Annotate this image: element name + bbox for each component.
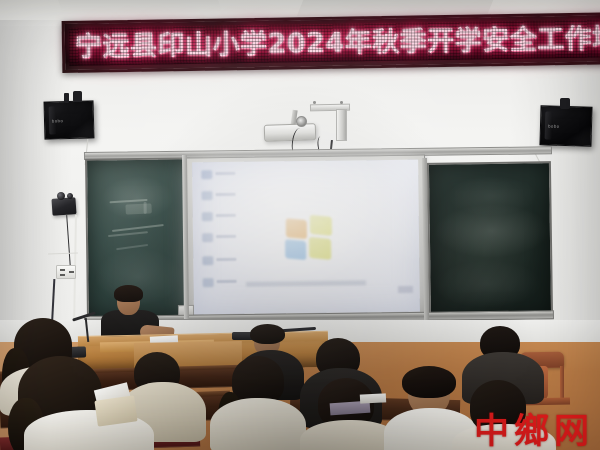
speaker-mount-right xyxy=(560,98,570,109)
led-banner: 宁远县印山小学2024年秋季开学安全工作培训会 xyxy=(62,12,600,73)
wall-shading-left xyxy=(0,20,70,340)
speaker-logo-right: bobo xyxy=(548,124,560,129)
desk-paper-2 xyxy=(360,393,386,403)
windows-logo-quadrant-3 xyxy=(285,239,306,260)
wall-camera-lens xyxy=(57,192,65,200)
projector-bolt-1 xyxy=(313,101,316,104)
projector-bolt-2 xyxy=(340,101,343,104)
projector-body xyxy=(264,123,317,142)
speaker-bracket-left xyxy=(64,93,69,103)
desktop-icon-5 xyxy=(202,256,213,265)
windows-logo-quadrant-2 xyxy=(310,215,332,236)
chalk-smudge-1 xyxy=(101,176,174,221)
desktop-icon-6 xyxy=(203,278,214,287)
projector-mount-post xyxy=(336,109,347,141)
chalk-smear-3 xyxy=(432,259,543,309)
chalk-smear-1 xyxy=(433,203,550,259)
windows-logo-quadrant-4 xyxy=(309,237,331,260)
chalkboard-right xyxy=(427,161,553,321)
chalk-stroke-4 xyxy=(108,231,148,237)
ceiling-slab xyxy=(297,0,493,16)
speaker-mount-left xyxy=(73,91,82,102)
power-outlet[interactable] xyxy=(56,265,76,279)
wall-camera-body xyxy=(51,197,76,216)
outlet-slot-3 xyxy=(69,271,74,273)
projected-system-tray xyxy=(398,286,413,293)
desktop-icon-4 xyxy=(202,233,213,242)
presenter-hair xyxy=(114,285,143,302)
ceiling-slab-secondary xyxy=(58,0,222,12)
desktop-icon-label-6 xyxy=(217,280,237,283)
outlet-slot-1 xyxy=(60,269,65,271)
projector-lens xyxy=(296,116,307,127)
chalk-stroke-6 xyxy=(144,202,147,214)
desktop-icon-label-5 xyxy=(216,258,236,261)
wooden-chair-post-right xyxy=(560,366,564,402)
desktop-icon-3 xyxy=(202,212,213,221)
desktop-icon-label-3 xyxy=(216,214,236,217)
watermark: 中鄉网 xyxy=(474,403,594,450)
led-banner-frame: 宁远县印山小学2024年秋季开学安全工作培训会 xyxy=(62,12,600,73)
chalk-smear-2 xyxy=(447,175,538,216)
wall-speaker-right: bobo xyxy=(539,105,592,146)
desktop-icon-2 xyxy=(202,191,213,200)
desktop-icon-1 xyxy=(201,170,212,179)
windows-logo xyxy=(285,216,334,261)
wall-camera-lens-secondary xyxy=(67,193,73,199)
classroom-photo: 宁远县印山小学2024年秋季开学安全工作培训会 bobo bobo xyxy=(0,0,600,450)
wall-speaker-left: bobo xyxy=(44,100,95,139)
outlet-slot-2 xyxy=(60,274,65,276)
projected-desktop-icons xyxy=(199,166,245,295)
speaker-logo-left: bobo xyxy=(52,118,64,123)
desktop-icon-label-2 xyxy=(216,193,236,196)
windows-logo-quadrant-1 xyxy=(286,218,307,239)
led-banner-text: 宁远县印山小学2024年秋季开学安全工作培训会 xyxy=(75,17,600,61)
chalk-stroke-5 xyxy=(116,244,148,250)
chalk-stroke-1 xyxy=(110,199,148,203)
chalk-stroke-2 xyxy=(125,203,151,214)
desktop-icon-label-1 xyxy=(215,172,235,175)
desktop-icon-label-4 xyxy=(216,235,236,238)
audience-arm xyxy=(94,395,137,426)
chalk-stroke-3 xyxy=(112,224,164,232)
